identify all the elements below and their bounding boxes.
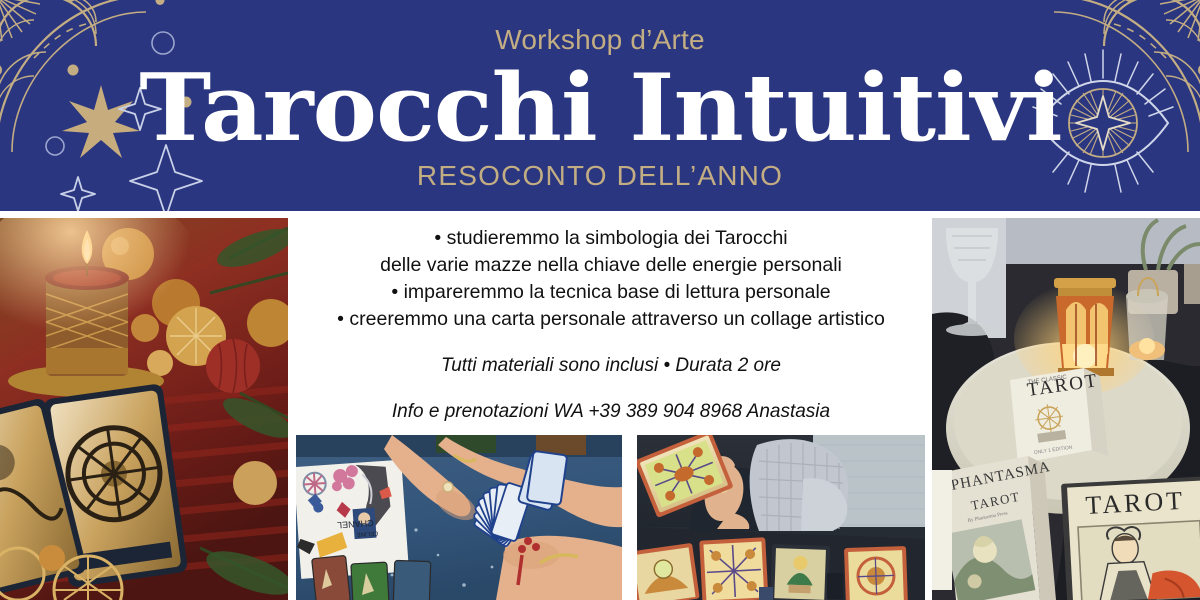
bullet-line-3: • impareremmo la tecnica base di lettura… xyxy=(296,279,926,306)
contact-info: Info e prenotazioni WA +39 389 904 8968 … xyxy=(296,401,926,423)
materials-note: Tutti materiali sono inclusi • Durata 2 … xyxy=(296,355,926,377)
header-kicker: Workshop d’Arte xyxy=(495,26,704,54)
poster-header: Workshop d’Arte Tarocchi Intuitivi RESOC… xyxy=(0,0,1200,211)
bullet-line-2: delle varie mazze nella chiave delle ene… xyxy=(296,252,926,279)
poster-body: • studieremmo la simbologia dei Tarocchi… xyxy=(0,211,1200,600)
photo-candle-tarot-christmas xyxy=(0,218,288,600)
header-subtitle: RESOCONTO DELL’ANNO xyxy=(417,160,783,192)
photo-tarot-decks-lantern: TAROT THE CLASSIC ONLY 1 EDITION PHANTAS… xyxy=(932,218,1200,600)
page-title: Tarocchi Intuitivi xyxy=(139,62,1061,153)
svg-text:TAROT: TAROT xyxy=(1085,486,1186,520)
photo-reading-marseille-cards xyxy=(637,435,925,600)
bullet-line-4: • creeremmo una carta personale attraver… xyxy=(296,306,926,333)
photo-hands-shuffling-cards: CHANEL CÉLINE xyxy=(296,435,622,600)
bullet-line-1: • studieremmo la simbologia dei Tarocchi xyxy=(296,225,926,252)
description-block: • studieremmo la simbologia dei Tarocchi… xyxy=(296,225,926,423)
poster-root: Workshop d’Arte Tarocchi Intuitivi RESOC… xyxy=(0,0,1200,600)
